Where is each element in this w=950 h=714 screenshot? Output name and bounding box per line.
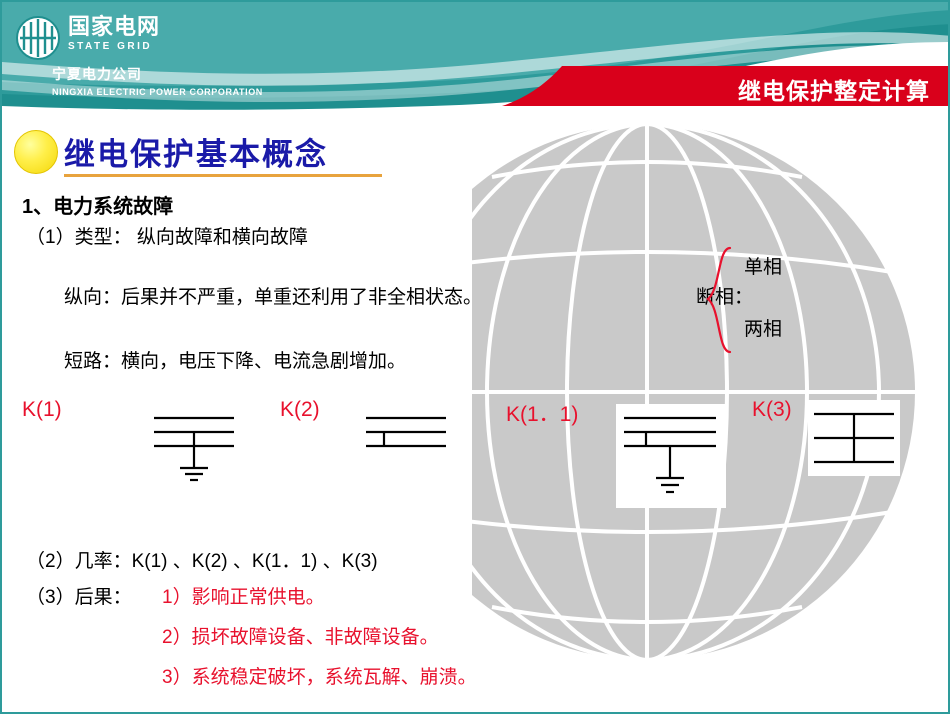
company-name-cn: 宁夏电力公司 <box>52 64 263 84</box>
label-consequence: （3）后果： <box>26 582 132 609</box>
company-name: 宁夏电力公司 NINGXIA ELECTRIC POWER CORPORATIO… <box>52 64 263 97</box>
consequence-item-0: 1）影响正常供电。 <box>162 582 325 609</box>
section-title-underline <box>64 174 382 177</box>
symbol-label-k3: K(3) <box>752 398 792 422</box>
section-bullet-icon <box>14 130 58 174</box>
line-fault-type: （1）类型： 纵向故障和横向故障 <box>26 222 308 249</box>
consequence-item-1: 2）损坏故障设备、非故障设备。 <box>162 622 439 649</box>
state-grid-emblem-icon <box>16 16 60 60</box>
brace-item-0: 单相 <box>744 252 782 279</box>
break-phase-brace-group: 单相 两相 <box>702 246 872 356</box>
logo-text-cn: 国家电网 <box>68 16 160 38</box>
company-name-en: NINGXIA ELECTRIC POWER CORPORATION <box>52 87 263 97</box>
fault-symbol-phase-to-phase <box>360 406 450 476</box>
logo-text-en: STATE GRID <box>68 42 160 52</box>
fault-symbol-single-phase-ground <box>150 406 238 488</box>
header-title: 继电保护整定计算 <box>738 72 930 106</box>
symbol-label-k1: K(1) <box>22 398 62 422</box>
content-heading: 1、电力系统故障 <box>22 190 173 219</box>
brace-item-1: 两相 <box>744 314 782 341</box>
symbol-label-k11: K(1．1) <box>506 398 578 428</box>
line-short-circuit: 短路：横向，电压下降、电流急剧增加。 <box>64 346 406 373</box>
section-title: 继电保护基本概念 <box>64 129 328 174</box>
state-grid-logo: 国家电网 STATE GRID <box>16 16 160 60</box>
fault-symbol-double-phase-ground <box>616 404 726 508</box>
slide: 国家电网 STATE GRID 宁夏电力公司 NINGXIA ELECTRIC … <box>0 0 950 714</box>
line-probability: （2）几率：K(1) 、K(2) 、K(1．1) 、K(3) <box>26 546 378 573</box>
consequence-item-2: 3）系统稳定破坏，系统瓦解、崩溃。 <box>162 662 477 689</box>
slide-header: 国家电网 STATE GRID 宁夏电力公司 NINGXIA ELECTRIC … <box>2 2 950 114</box>
fault-symbol-three-phase <box>808 400 900 476</box>
symbol-label-k2: K(2) <box>280 398 320 422</box>
line-longitudinal-fault: 纵向：后果并不严重，单重还利用了非全相状态。 <box>64 282 482 309</box>
